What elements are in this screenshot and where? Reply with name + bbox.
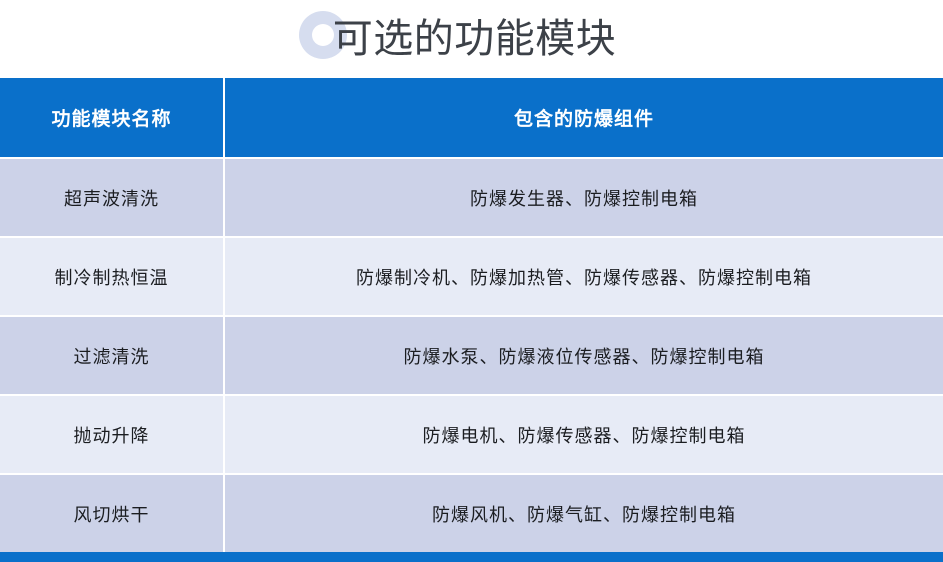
cell-components: 防爆发生器、防爆控制电箱 — [224, 158, 943, 237]
cell-components: 防爆制冷机、防爆加热管、防爆传感器、防爆控制电箱 — [224, 237, 943, 316]
bottom-accent-bar — [0, 552, 943, 562]
table-header-row: 功能模块名称 包含的防爆组件 — [0, 78, 943, 158]
cell-module-name: 制冷制热恒温 — [0, 237, 224, 316]
table-body: 超声波清洗 防爆发生器、防爆控制电箱 制冷制热恒温 防爆制冷机、防爆加热管、防爆… — [0, 158, 943, 552]
cell-components: 防爆水泵、防爆液位传感器、防爆控制电箱 — [224, 316, 943, 395]
table-row: 过滤清洗 防爆水泵、防爆液位传感器、防爆控制电箱 — [0, 316, 943, 395]
table-header: 功能模块名称 包含的防爆组件 — [0, 78, 943, 158]
cell-components: 防爆风机、防爆气缸、防爆控制电箱 — [224, 474, 943, 552]
column-header-module-name: 功能模块名称 — [0, 78, 224, 158]
cell-components: 防爆电机、防爆传感器、防爆控制电箱 — [224, 395, 943, 474]
table-row: 超声波清洗 防爆发生器、防爆控制电箱 — [0, 158, 943, 237]
cell-module-name: 风切烘干 — [0, 474, 224, 552]
cell-module-name: 过滤清洗 — [0, 316, 224, 395]
page-title-area: 可选的功能模块 — [0, 0, 943, 78]
cell-module-name: 超声波清洗 — [0, 158, 224, 237]
column-header-components: 包含的防爆组件 — [224, 78, 943, 158]
optional-modules-table: 功能模块名称 包含的防爆组件 超声波清洗 防爆发生器、防爆控制电箱 制冷制热恒温… — [0, 78, 943, 552]
slide-page: 可选的功能模块 功能模块名称 包含的防爆组件 超声波清洗 防爆发生器、防爆控制电… — [0, 0, 943, 534]
table-row: 抛动升降 防爆电机、防爆传感器、防爆控制电箱 — [0, 395, 943, 474]
cell-module-name: 抛动升降 — [0, 395, 224, 474]
table-row: 风切烘干 防爆风机、防爆气缸、防爆控制电箱 — [0, 474, 943, 552]
table-row: 制冷制热恒温 防爆制冷机、防爆加热管、防爆传感器、防爆控制电箱 — [0, 237, 943, 316]
page-title: 可选的功能模块 — [333, 15, 617, 63]
